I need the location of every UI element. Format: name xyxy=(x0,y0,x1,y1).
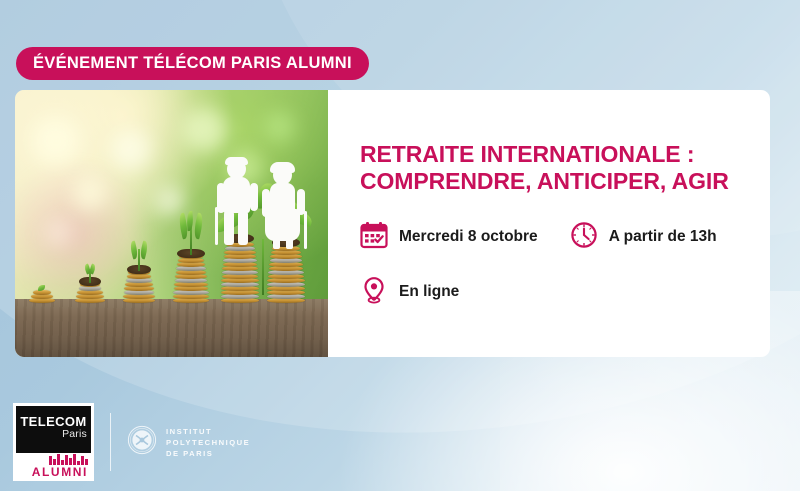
event-category-badge-label: ÉVÉNEMENT TÉLÉCOM PARIS ALUMNI xyxy=(33,54,352,73)
coin-stack-6 xyxy=(267,245,305,303)
coin-stack-2 xyxy=(75,283,105,303)
event-category-badge: ÉVÉNEMENT TÉLÉCOM PARIS ALUMNI xyxy=(16,47,369,80)
footer-logos: TELECOM Paris ALUMNI INSTITUT xyxy=(13,403,250,481)
alumni-wordmark: ALUMNI xyxy=(32,466,88,478)
bokeh-circle xyxy=(33,118,79,164)
coin-stack-5 xyxy=(221,241,259,303)
alumni-logo-block: ALUMNI xyxy=(16,453,91,478)
event-location-text: En ligne xyxy=(399,283,459,301)
paper-figure-man xyxy=(215,159,259,245)
paris-wordmark: Paris xyxy=(62,428,87,441)
coin-stack-3 xyxy=(123,271,155,303)
paper-figure-woman xyxy=(261,165,307,249)
event-date: Mercredi 8 octobre xyxy=(360,221,538,254)
event-date-text: Mercredi 8 octobre xyxy=(399,228,538,246)
sprout xyxy=(131,241,147,271)
bokeh-circle xyxy=(45,220,71,246)
institut-polytechnique-wordmark: INSTITUT POLYTECHNIQUE DE PARIS xyxy=(166,426,250,459)
telecom-paris-alumni-logo: TELECOM Paris ALUMNI xyxy=(13,403,94,481)
coin-stack-1 xyxy=(29,291,55,303)
sprout xyxy=(38,284,46,291)
event-details: RETRAITE INTERNATIONALE : COMPRENDRE, AN… xyxy=(328,90,770,357)
telecom-wordmark: TELECOM xyxy=(20,415,86,428)
event-photo-image xyxy=(15,90,328,357)
bokeh-circle xyxy=(73,176,107,210)
bokeh-circle xyxy=(111,130,151,170)
bokeh-circle xyxy=(265,112,295,142)
event-meta: Mercredi 8 octobre xyxy=(360,221,770,309)
coin-stack-4 xyxy=(173,255,209,303)
event-time: A partir de 13h xyxy=(570,221,717,254)
event-location: En ligne xyxy=(360,276,459,309)
event-meta-row-location: En ligne xyxy=(360,276,770,309)
event-photo xyxy=(15,90,328,357)
logo-divider xyxy=(110,413,111,471)
calendar-icon xyxy=(360,221,388,254)
location-pin-icon xyxy=(360,276,388,309)
event-meta-row-date-time: Mercredi 8 octobre xyxy=(360,221,770,254)
institut-polytechnique-seal-icon xyxy=(127,425,157,460)
alumni-barcode-mark xyxy=(49,454,88,465)
event-time-text: A partir de 13h xyxy=(609,228,717,246)
clock-icon xyxy=(570,221,598,254)
event-title: RETRAITE INTERNATIONALE : COMPRENDRE, AN… xyxy=(360,141,770,195)
photo-wooden-table xyxy=(15,299,328,357)
institut-polytechnique-de-paris-logo: INSTITUT POLYTECHNIQUE DE PARIS xyxy=(127,425,250,460)
bokeh-circle xyxy=(183,108,227,152)
event-card: RETRAITE INTERNATIONALE : COMPRENDRE, AN… xyxy=(15,90,770,357)
sprout xyxy=(180,211,202,255)
telecom-paris-logo-block: TELECOM Paris xyxy=(16,406,91,453)
sprout xyxy=(85,265,95,283)
